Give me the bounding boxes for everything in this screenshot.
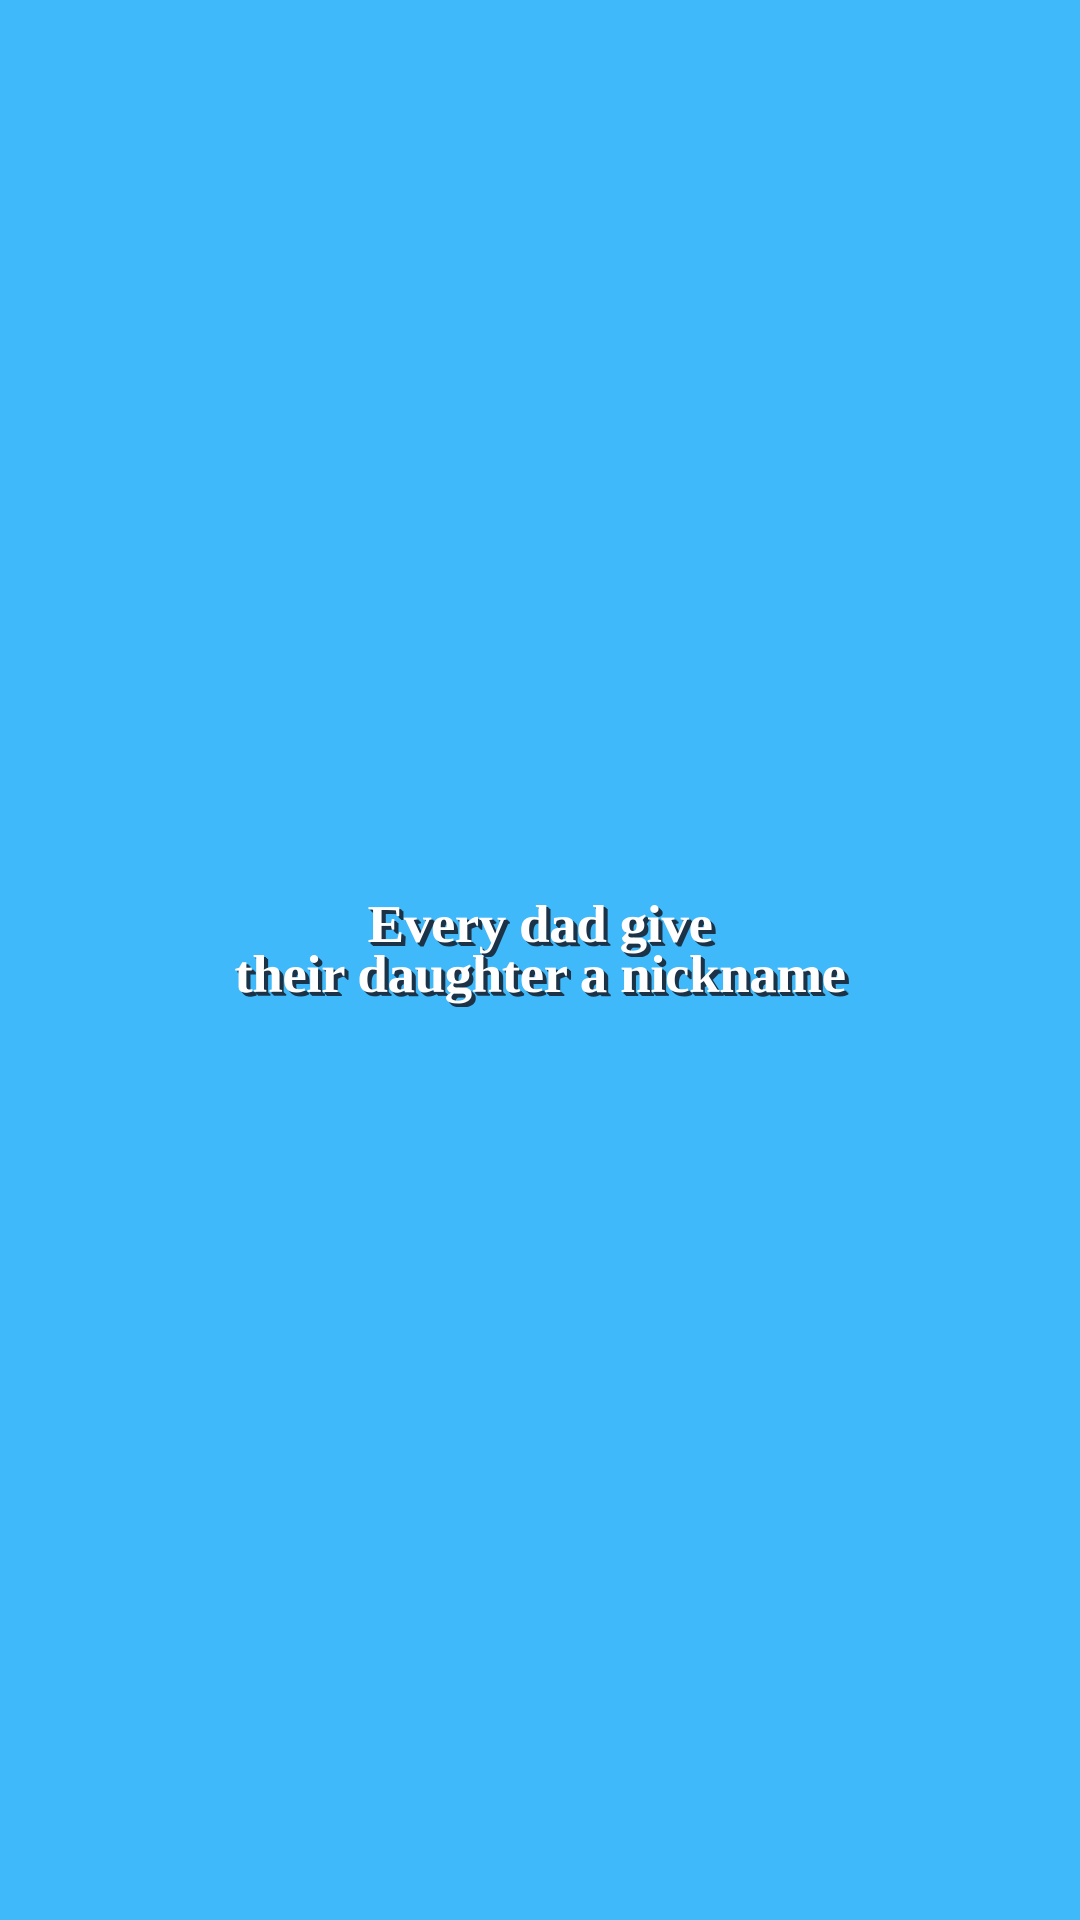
caption-line-2: their daughter a nickname — [0, 950, 1080, 1000]
caption-text-block: Every dad give their daughter a nickname — [0, 900, 1080, 1000]
image-canvas: Every dad give their daughter a nickname — [0, 0, 1080, 1920]
caption-line-1: Every dad give — [0, 900, 1080, 950]
